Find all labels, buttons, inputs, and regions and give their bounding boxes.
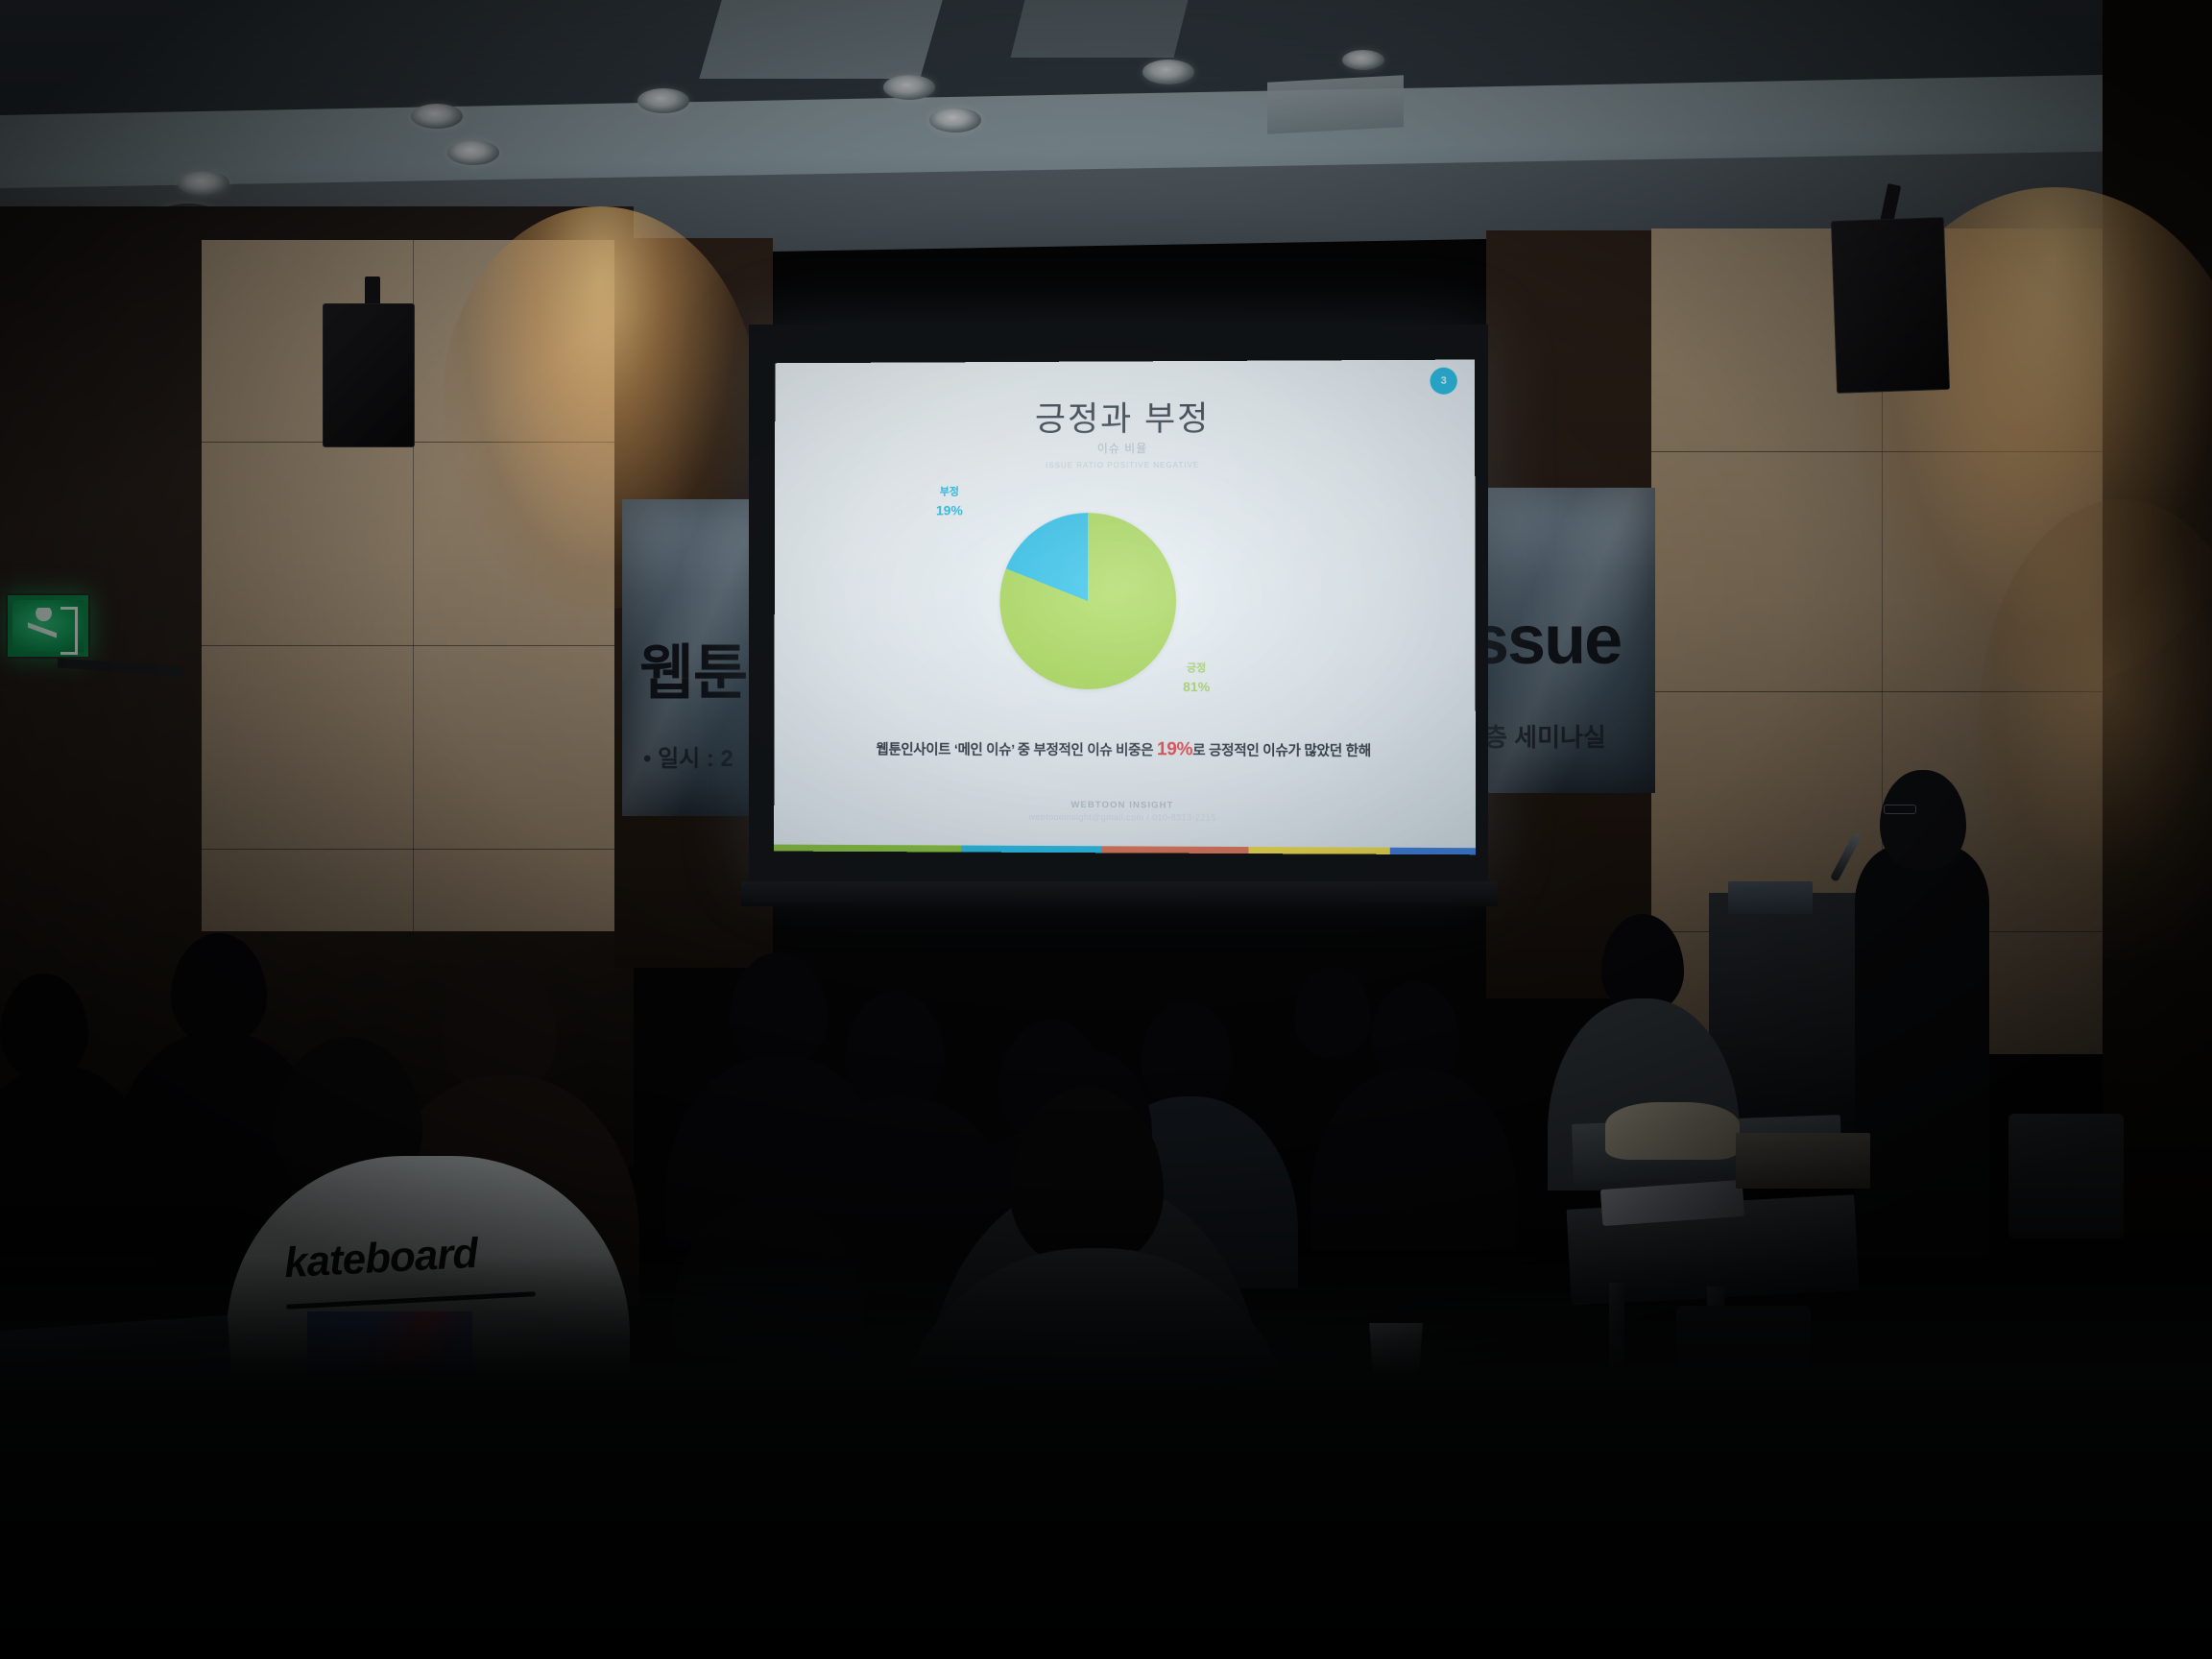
- bar-salmon: [1101, 846, 1249, 854]
- presenter-body: [1855, 845, 1989, 1258]
- banner-left-title: 웹툰: [639, 624, 747, 710]
- slide-footer: WEBTOON INSIGHT webtooninsight@gmail.com…: [774, 799, 1476, 824]
- caption-highlight: 19%: [1157, 739, 1192, 759]
- banner-right-title: ssue: [1484, 601, 1621, 680]
- bar-yellow: [1249, 847, 1390, 854]
- ceiling-skylight-panel-2: [1011, 0, 1189, 58]
- bar-green: [774, 845, 961, 853]
- wall-column-far-right: [2103, 0, 2212, 1248]
- exit-door-icon: [60, 607, 78, 655]
- emergency-exit-sign: [6, 593, 90, 659]
- caption-part-1: 웹툰인사이트 ‘메인 이슈’ 중 부정적인 이슈 비중은: [877, 742, 1157, 758]
- pie-label-positive-name: 긍정: [1183, 661, 1210, 677]
- pie-label-negative-value: 19%: [936, 500, 963, 520]
- presenter-glasses: [1884, 805, 1916, 814]
- audience-head: [845, 991, 945, 1110]
- projection-screen-surface: 3 긍정과 부정 이슈 비율 ISSUE RATIO POSITIVE NEGA…: [749, 325, 1488, 881]
- audience-head: [1294, 966, 1371, 1058]
- ceiling-downlight: [1142, 60, 1194, 84]
- audience-head: [1141, 1000, 1233, 1108]
- ceiling-downlight: [178, 171, 229, 196]
- slide-color-bar: [774, 845, 1476, 855]
- slide-subtitle-english: ISSUE RATIO POSITIVE NEGATIVE: [775, 460, 1475, 470]
- ceiling-skylight-panel: [699, 0, 943, 79]
- screen-bottom-bar: [741, 881, 1498, 906]
- banner-right-line: 층 세미나실: [1484, 718, 1606, 754]
- chair-right: [2008, 1114, 2124, 1238]
- bag-on-desk: [1605, 1102, 1740, 1160]
- ceiling-downlight: [883, 75, 935, 100]
- slide-caption: 웹툰인사이트 ‘메인 이슈’ 중 부정적인 이슈 비중은 19%로 긍정적인 이…: [831, 733, 1417, 766]
- audience-shoulders: [1311, 1068, 1517, 1250]
- slide-title: 긍정과 부정: [775, 391, 1475, 443]
- pie-label-positive: 긍정 81%: [1183, 661, 1210, 697]
- banner-left-line: • 일시 : 2: [643, 739, 733, 773]
- desk-far-right: [1736, 1133, 1870, 1189]
- ceiling-downlight: [1342, 50, 1384, 70]
- presenter-head: [1880, 770, 1966, 870]
- pie-label-negative-name: 부정: [936, 485, 963, 500]
- bar-cyan: [961, 846, 1101, 854]
- wall-speaker-left: [323, 303, 415, 447]
- ceiling-downlight: [637, 88, 689, 113]
- bar-blue: [1390, 848, 1476, 855]
- ceiling-downlight: [411, 104, 463, 129]
- wall-tile-seam: [202, 849, 614, 850]
- floor: [0, 1256, 2212, 1659]
- slide-subtitle: 이슈 비율: [775, 439, 1475, 457]
- ceiling-downlight: [929, 108, 981, 132]
- exit-sign-face: [12, 600, 84, 652]
- wall-tile-seam: [1651, 451, 2103, 452]
- pie-label-positive-value: 81%: [1183, 677, 1210, 697]
- pie-label-negative: 부정 19%: [936, 485, 963, 520]
- projection-screen: 3 긍정과 부정 이슈 비율 ISSUE RATIO POSITIVE NEGA…: [749, 325, 1488, 881]
- banner-right: ssue 층 세미나실: [1484, 488, 1655, 793]
- slide-footer-brand: WEBTOON INSIGHT: [774, 799, 1476, 812]
- wall-tile-seam: [1651, 691, 2103, 692]
- running-person-icon: [28, 608, 57, 654]
- laptop-on-podium: [1728, 881, 1813, 914]
- audience-head: [730, 952, 828, 1068]
- wall-tile-seam: [202, 645, 614, 646]
- ceiling-downlight: [447, 140, 499, 165]
- ceiling-vent-grille: [1267, 75, 1404, 133]
- pie-chart-slices: [999, 513, 1176, 689]
- slide-footer-contact: webtooninsight@gmail.com / 010-8313-2215: [774, 811, 1476, 824]
- presentation-slide: 3 긍정과 부정 이슈 비율 ISSUE RATIO POSITIVE NEGA…: [774, 360, 1476, 855]
- caption-part-2: 로 긍정적인 이슈가 많았던 한해: [1192, 743, 1371, 759]
- wall-speaker-right: [1831, 217, 1950, 394]
- pie-chart: [999, 513, 1176, 689]
- conference-room-photo: 웹툰 • 일시 : 2 ssue 층 세미나실 3 긍정과 부정 이슈 비율 I…: [0, 0, 2212, 1659]
